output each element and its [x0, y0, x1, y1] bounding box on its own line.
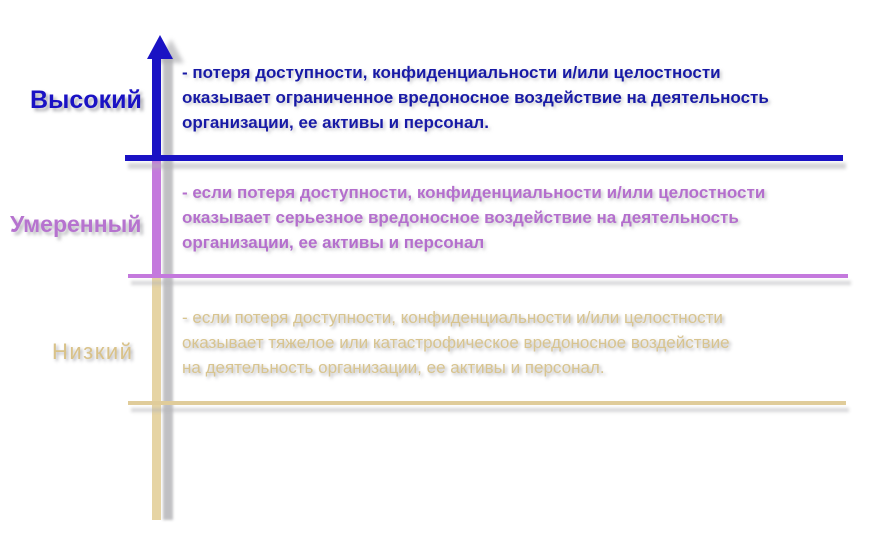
impact-level-diagram: Высокий - потеря доступности, конфиденци… — [0, 0, 878, 548]
axis-shadow — [163, 56, 173, 520]
tier-description-moderate: - если потеря доступности, конфиденциаль… — [182, 180, 878, 255]
tier-description-high: - потеря доступности, конфиденциальности… — [182, 60, 878, 135]
divider-moderate — [128, 274, 848, 278]
axis-segment-low — [152, 275, 161, 520]
tier-label-moderate: Умеренный — [10, 211, 141, 238]
tier-label-high: Высокий — [30, 86, 142, 115]
divider-moderate-shadow — [131, 281, 851, 285]
tier-label-low: Низкий — [52, 339, 133, 365]
axis-segment-moderate — [152, 155, 161, 277]
divider-high-shadow — [128, 163, 846, 169]
divider-low-shadow — [131, 408, 849, 412]
divider-high — [125, 155, 843, 161]
axis-segment-high — [152, 52, 161, 157]
tier-description-low: - если потеря доступности, конфиденциаль… — [182, 305, 878, 380]
divider-low — [128, 401, 846, 405]
